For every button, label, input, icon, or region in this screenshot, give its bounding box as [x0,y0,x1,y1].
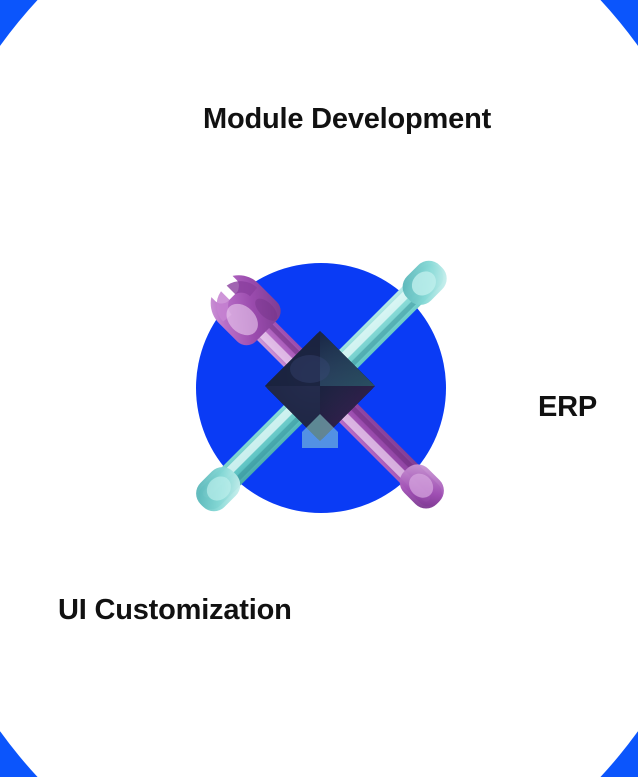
tools-illustration-svg [160,236,480,536]
label-module-development: Module Development [203,103,491,136]
label-ui-customization: UI Customization [58,594,292,627]
slide-canvas: Module Development ERP UI Customization [0,0,638,777]
label-erp: ERP [538,391,597,424]
crossed-tools-graphic [160,236,480,536]
